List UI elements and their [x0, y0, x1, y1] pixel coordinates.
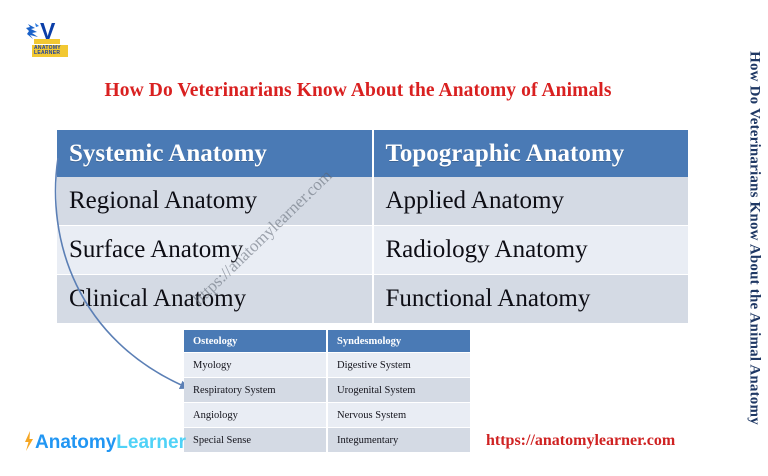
main-cell-applied: Applied Anatomy [373, 177, 689, 226]
sub-table-head: Osteology Syndesmology [184, 330, 470, 353]
table-row: Special Sense Integumentary [184, 428, 470, 453]
sub-table-body: Myology Digestive System Respiratory Sys… [184, 353, 470, 453]
table-row: Myology Digestive System [184, 353, 470, 378]
sub-table-header-row: Osteology Syndesmology [184, 330, 470, 353]
footer-url[interactable]: https://anatomylearner.com [486, 432, 675, 450]
page-title: How Do Veterinarians Know About the Anat… [0, 80, 716, 102]
main-header-cell-systemic: Systemic Anatomy [57, 130, 373, 177]
sub-cell-nervous: Nervous System [327, 403, 470, 428]
table-row: Clinical Anatomy Functional Anatomy [57, 275, 688, 324]
sub-cell-angiology: Angiology [184, 403, 327, 428]
sub-cell-myology: Myology [184, 353, 327, 378]
main-table-body: Regional Anatomy Applied Anatomy Surface… [57, 177, 688, 324]
sub-cell-urogenital: Urogenital System [327, 378, 470, 403]
sub-cell-integumentary: Integumentary [327, 428, 470, 453]
slide-canvas: V ANATOMY LEARNER How Do Veterinarians K… [0, 0, 768, 476]
main-cell-clinical: Clinical Anatomy [57, 275, 373, 324]
footer-logo-learner: Learner [116, 432, 186, 453]
table-row: Respiratory System Urogenital System [184, 378, 470, 403]
sub-header-cell-syndesmology: Syndesmology [327, 330, 470, 353]
main-table-header-row: Systemic Anatomy Topographic Anatomy [57, 130, 688, 177]
brand-mark-word: ANATOMY LEARNER [32, 45, 68, 57]
footer-logo-anatomy: Anatomy [35, 432, 116, 453]
main-table-head: Systemic Anatomy Topographic Anatomy [57, 130, 688, 177]
footer-logo: AnatomyLearner [24, 430, 186, 456]
systemic-anatomy-subtable: Osteology Syndesmology Myology Digestive… [184, 330, 470, 453]
anatomy-branches-table: Systemic Anatomy Topographic Anatomy Reg… [57, 130, 688, 324]
table-row: Surface Anatomy Radiology Anatomy [57, 226, 688, 275]
main-header-cell-topographic: Topographic Anatomy [373, 130, 689, 177]
sub-header-cell-osteology: Osteology [184, 330, 327, 353]
main-cell-radiology: Radiology Anatomy [373, 226, 689, 275]
table-row: Angiology Nervous System [184, 403, 470, 428]
table-row: Regional Anatomy Applied Anatomy [57, 177, 688, 226]
main-cell-functional: Functional Anatomy [373, 275, 689, 324]
side-caption: How Do Veterinarians Know About the Anim… [739, 0, 768, 476]
side-caption-text: How Do Veterinarians Know About the Anim… [746, 51, 763, 425]
brand-logo-mark: V ANATOMY LEARNER [22, 18, 68, 54]
sub-cell-digestive: Digestive System [327, 353, 470, 378]
sub-cell-respiratory: Respiratory System [184, 378, 327, 403]
main-cell-regional: Regional Anatomy [57, 177, 373, 226]
main-cell-surface: Surface Anatomy [57, 226, 373, 275]
sub-cell-special-sense: Special Sense [184, 428, 327, 453]
spark-icon [24, 431, 34, 451]
brand-mark-bar [34, 39, 60, 44]
